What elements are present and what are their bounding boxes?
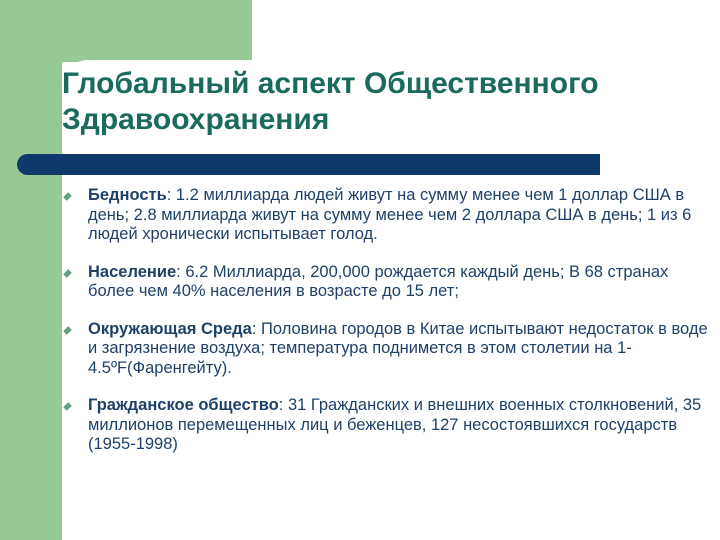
bullet-separator: : bbox=[167, 186, 176, 204]
list-item: Окружающая Среда: Половина городов в Кит… bbox=[62, 320, 710, 379]
diamond-bullet-icon bbox=[63, 269, 72, 278]
slide-body-bullet-list: Бедность: 1.2 миллиарда людей живут на с… bbox=[62, 186, 710, 455]
bullet-lead-label: Население bbox=[88, 263, 176, 281]
diamond-bullet-icon bbox=[63, 402, 72, 411]
bullet-lead-label: Окружающая Среда bbox=[88, 320, 252, 338]
green-left-strip-decoration bbox=[0, 0, 62, 540]
presentation-slide: Глобальный аспект Общественного Здравоох… bbox=[0, 0, 720, 540]
slide-title: Глобальный аспект Общественного Здравоох… bbox=[62, 66, 710, 138]
list-item: Бедность: 1.2 миллиарда людей живут на с… bbox=[62, 186, 710, 245]
bullet-lead-label: Гражданское общество bbox=[88, 396, 279, 414]
diamond-bullet-icon bbox=[63, 326, 72, 335]
bullet-body-text: 1.2 миллиарда людей живут на сумму менее… bbox=[88, 186, 691, 243]
list-item: Население: 6.2 Миллиарда, 200,000 рождае… bbox=[62, 263, 710, 302]
slide-title-line-2: Здравоохранения bbox=[62, 102, 710, 138]
bullet-separator: : bbox=[252, 320, 261, 338]
bullet-separator: : bbox=[176, 263, 185, 281]
slide-title-line-1: Глобальный аспект Общественного bbox=[62, 66, 710, 102]
bullet-lead-label: Бедность bbox=[88, 186, 167, 204]
navy-divider-bar bbox=[17, 154, 600, 175]
bullet-separator: : bbox=[279, 396, 288, 414]
diamond-bullet-icon bbox=[63, 192, 72, 201]
bullet-body-text-tail: F(Фаренгейту). bbox=[117, 359, 232, 377]
list-item: Гражданское общество: 31 Гражданских и в… bbox=[62, 396, 710, 455]
